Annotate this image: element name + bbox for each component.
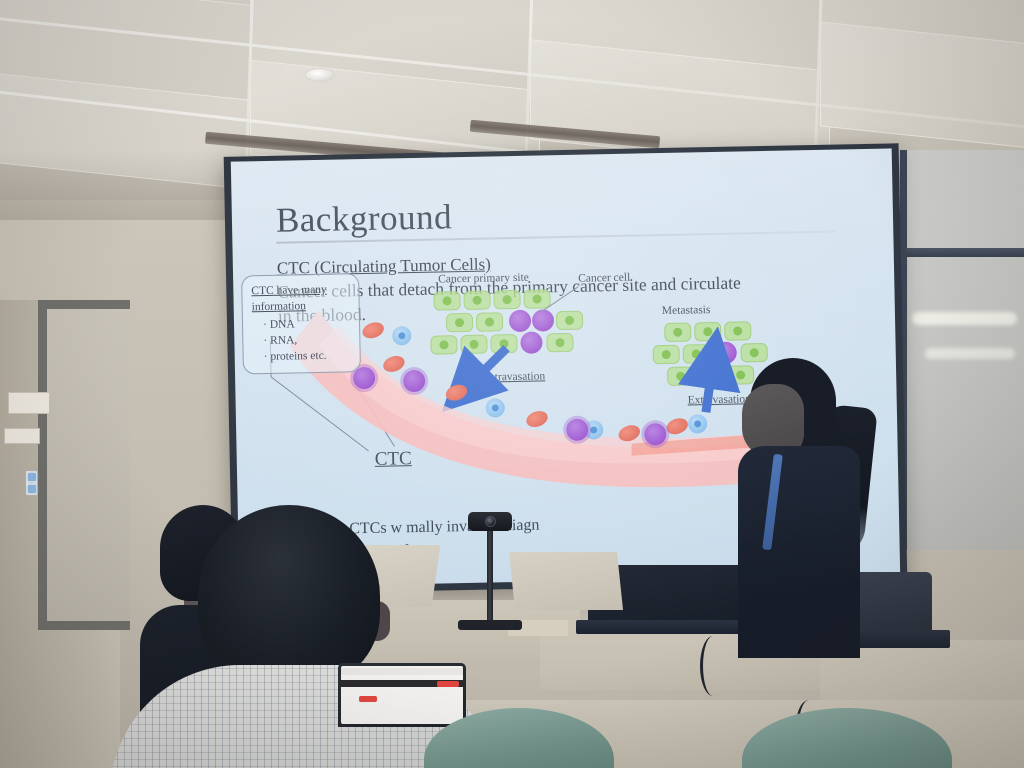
chair[interactable] (424, 708, 614, 768)
wall-notice (8, 392, 50, 414)
door-frame (38, 300, 130, 630)
callout-bullet: RNA, (263, 331, 350, 349)
control-led-indicator (28, 485, 36, 493)
laptop-lid-podium (509, 552, 623, 610)
chair-row (0, 694, 1024, 768)
presenter-body (738, 446, 860, 658)
control-led-indicator (28, 473, 36, 481)
ctc-information-callout: CTC have many information DNA RNA, prote… (241, 273, 361, 374)
callout-bullet: DNA (263, 315, 350, 333)
wall-control-panel[interactable] (25, 470, 38, 496)
callout-bullet: proteins etc. (264, 348, 351, 366)
whiteboard-rail (906, 248, 1024, 257)
meeting-room-scene: Background CTC (Circulating Tumor Cells)… (0, 0, 1024, 768)
webcam-stand (487, 528, 493, 624)
presenter (720, 358, 890, 658)
audience-head (198, 505, 380, 687)
whiteboard-glare (912, 312, 1017, 325)
callout-line-1: CTC have many (251, 284, 327, 298)
wall-notice (4, 428, 40, 444)
chair[interactable] (742, 708, 952, 768)
webcam-lens-icon (485, 516, 496, 527)
whiteboard-glare (925, 348, 1015, 359)
smoke-detector-icon (305, 68, 335, 82)
callout-line-2: information (252, 301, 307, 314)
laptop-red-button (437, 681, 459, 687)
